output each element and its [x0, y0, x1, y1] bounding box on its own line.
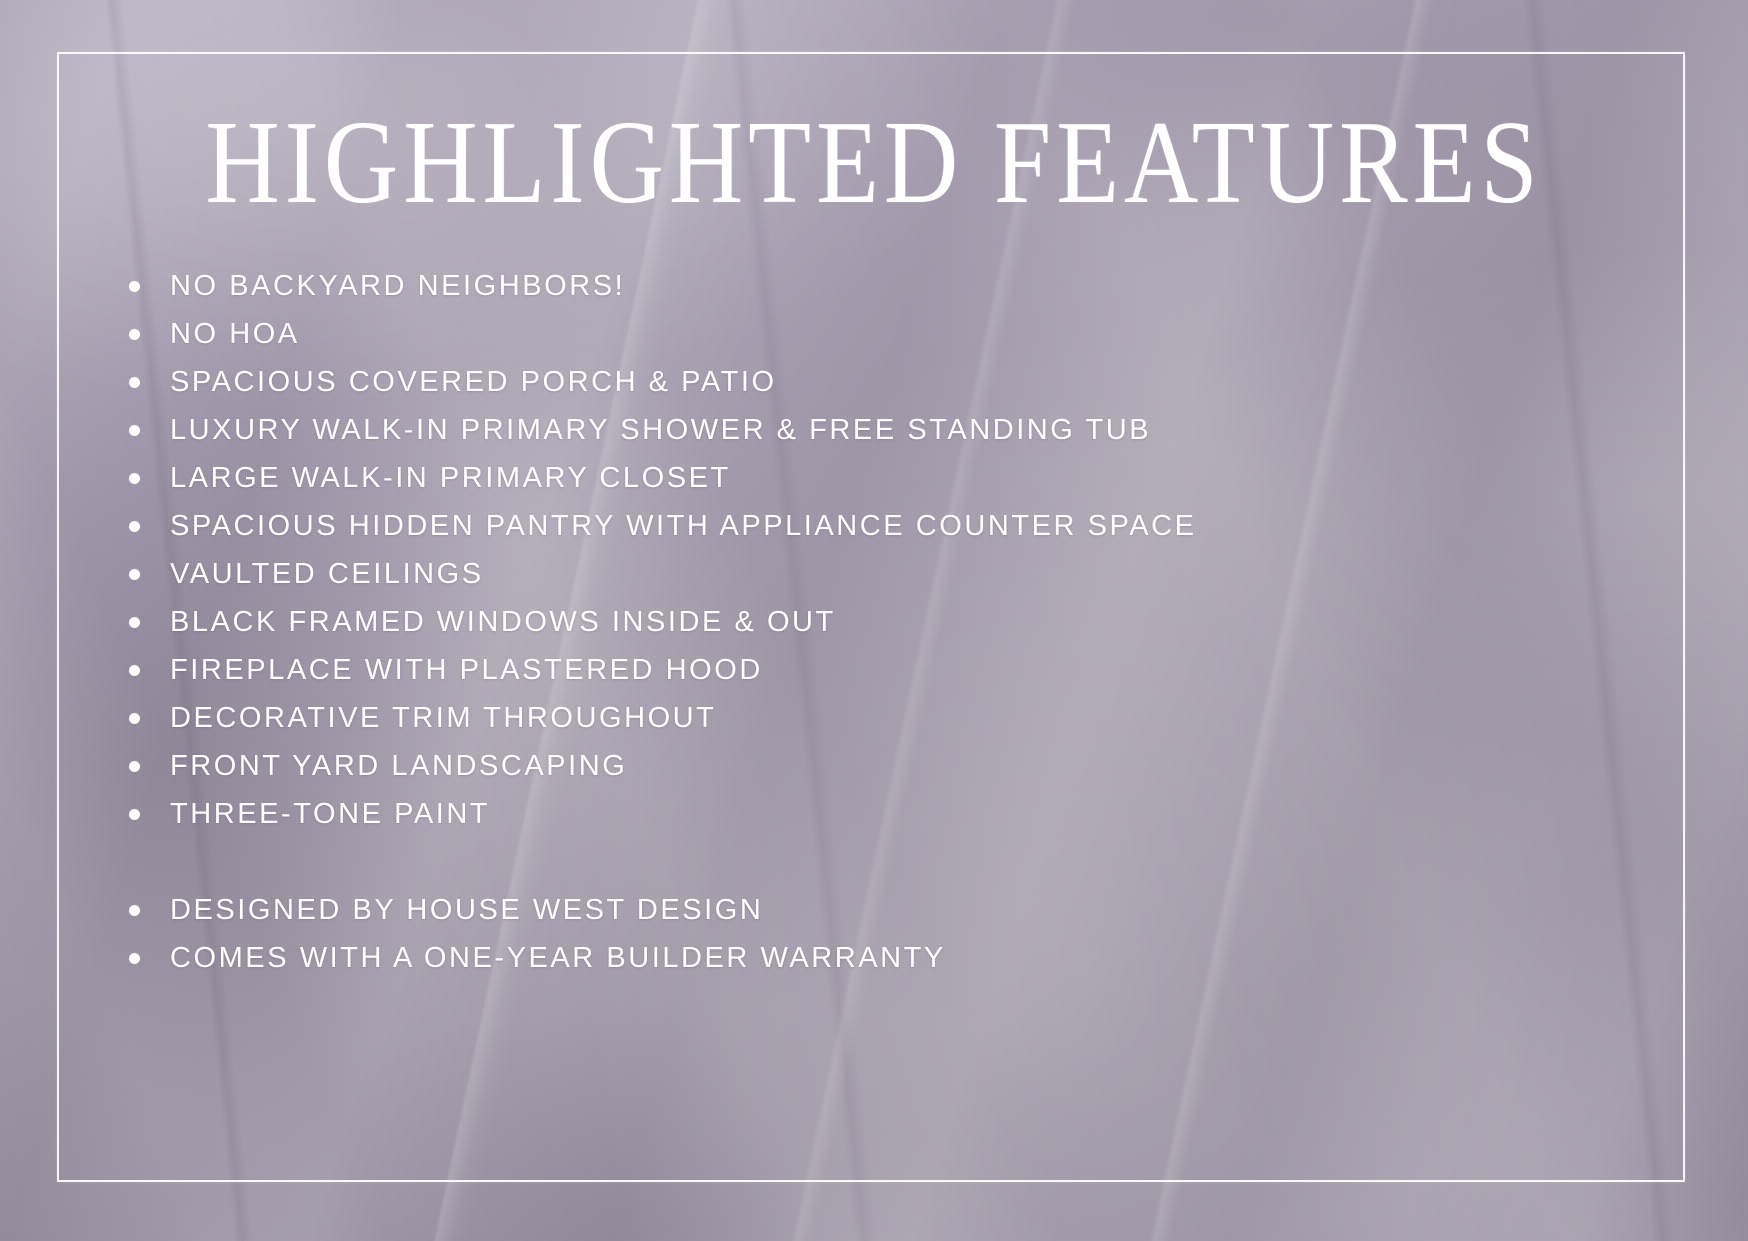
list-item-label: BLACK FRAMED WINDOWS INSIDE & OUT	[170, 606, 836, 639]
list-item-label: VAULTED CEILINGS	[170, 558, 484, 591]
list-item: NO HOA	[126, 310, 1666, 358]
bullet-dot-icon	[129, 665, 140, 676]
list-item: LARGE WALK-IN PRIMARY CLOSET	[126, 454, 1666, 502]
list-item: FIREPLACE WITH PLASTERED HOOD	[126, 646, 1666, 694]
list-item: NO BACKYARD NEIGHBORS!	[126, 262, 1666, 310]
list-item: VAULTED CEILINGS	[126, 550, 1666, 598]
list-item-label: LUXURY WALK-IN PRIMARY SHOWER & FREE STA…	[170, 414, 1151, 447]
bullet-dot-icon	[129, 617, 140, 628]
list-item: BLACK FRAMED WINDOWS INSIDE & OUT	[126, 598, 1666, 646]
bullet-dot-icon	[129, 377, 140, 388]
list-item-label: NO HOA	[170, 318, 300, 351]
bullet-dot-icon	[129, 761, 140, 772]
bullet-dot-icon	[129, 713, 140, 724]
list-item: LUXURY WALK-IN PRIMARY SHOWER & FREE STA…	[126, 406, 1666, 454]
list-item: COMES WITH A ONE-YEAR BUILDER WARRANTY	[126, 934, 1666, 982]
list-item-label: THREE-TONE PAINT	[170, 798, 490, 831]
list-item: FRONT YARD LANDSCAPING	[126, 742, 1666, 790]
list-item-label: SPACIOUS HIDDEN PANTRY WITH APPLIANCE CO…	[170, 510, 1197, 543]
list-item: SPACIOUS COVERED PORCH & PATIO	[126, 358, 1666, 406]
list-item: THREE-TONE PAINT	[126, 790, 1666, 838]
list-item-label: DESIGNED BY HOUSE WEST DESIGN	[170, 894, 763, 927]
bullet-dot-icon	[129, 425, 140, 436]
bullet-dot-icon	[129, 329, 140, 340]
bullet-dot-icon	[129, 569, 140, 580]
bullet-dot-icon	[129, 905, 140, 916]
list-item-label: COMES WITH A ONE-YEAR BUILDER WARRANTY	[170, 942, 946, 975]
slide-canvas: HIGHLIGHTED FEATURES NO BACKYARD NEIGHBO…	[0, 0, 1748, 1241]
list-item: DECORATIVE TRIM THROUGHOUT	[126, 694, 1666, 742]
list-item-label: NO BACKYARD NEIGHBORS!	[170, 270, 625, 303]
bullet-dot-icon	[129, 473, 140, 484]
highlighted-features-list: NO BACKYARD NEIGHBORS! NO HOA SPACIOUS C…	[126, 262, 1666, 982]
list-item: SPACIOUS HIDDEN PANTRY WITH APPLIANCE CO…	[126, 502, 1666, 550]
bullet-dot-icon	[129, 809, 140, 820]
list-item-label: FIREPLACE WITH PLASTERED HOOD	[170, 654, 763, 687]
page-title: HIGHLIGHTED FEATURES	[9, 104, 1740, 223]
list-item: DESIGNED BY HOUSE WEST DESIGN	[126, 886, 1666, 934]
list-item-label: DECORATIVE TRIM THROUGHOUT	[170, 702, 716, 735]
bullet-dot-icon	[129, 953, 140, 964]
bullet-dot-icon	[129, 281, 140, 292]
list-item-label: FRONT YARD LANDSCAPING	[170, 750, 627, 783]
list-item-label: LARGE WALK-IN PRIMARY CLOSET	[170, 462, 731, 495]
list-item-label: SPACIOUS COVERED PORCH & PATIO	[170, 366, 777, 399]
bullet-dot-icon	[129, 521, 140, 532]
list-gap-spacer	[126, 838, 1666, 886]
